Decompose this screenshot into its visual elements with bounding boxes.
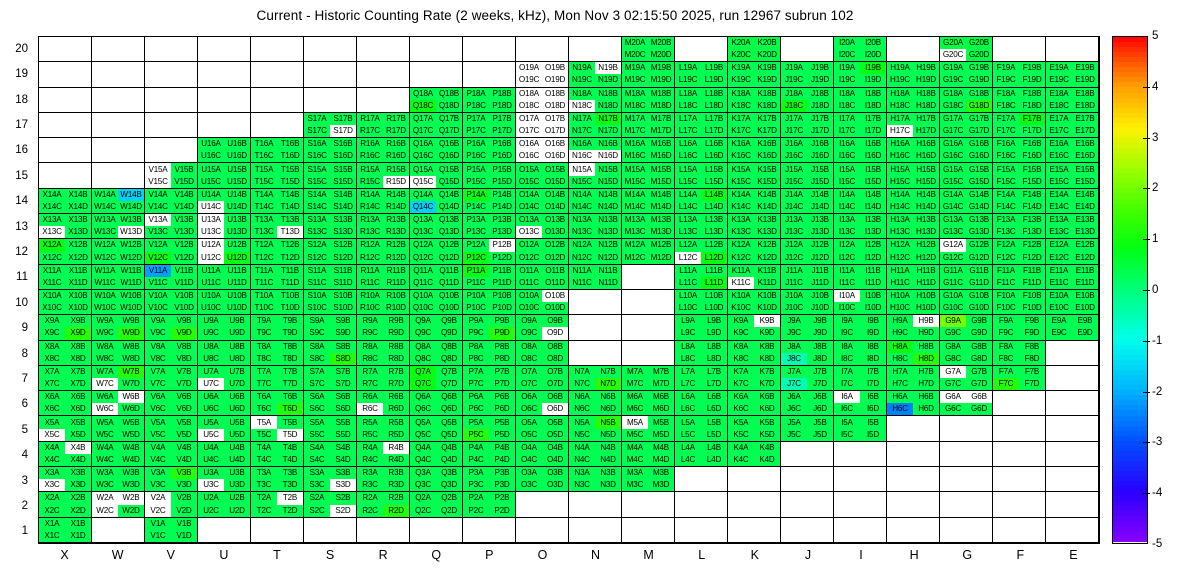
paddle-V3[interactable]: V3AV3BV3CV3D — [145, 467, 198, 492]
paddle-quadrant-O11C[interactable]: O11C — [516, 277, 542, 289]
paddle-quadrant-V13D[interactable]: V13D — [171, 226, 197, 238]
paddle-quadrant-X11B[interactable]: X11B — [65, 265, 91, 277]
paddle-quadrant-G6A[interactable]: G6A — [940, 391, 966, 403]
paddle-quadrant-U6B[interactable]: U6B — [224, 391, 250, 403]
paddle-quadrant-N17A[interactable]: N17A — [569, 113, 595, 125]
paddle-quadrant-G12C[interactable]: G12C — [940, 252, 966, 264]
paddle-quadrant-T12D[interactable]: T12D — [277, 252, 303, 264]
paddle-quadrant-R15B[interactable]: R15B — [383, 163, 409, 175]
paddle-quadrant-W10A[interactable]: W10A — [92, 290, 118, 302]
paddle-I5[interactable]: I5AI5BI5CI5D — [834, 416, 887, 441]
paddle-quadrant-J8D[interactable]: J8D — [807, 353, 833, 365]
paddle-quadrant-S4A[interactable]: S4A — [304, 442, 330, 454]
paddle-quadrant-Q17B[interactable]: Q17B — [436, 113, 462, 125]
paddle-quadrant-P7D[interactable]: P7D — [489, 378, 515, 390]
paddle-quadrant-N4D[interactable]: N4D — [595, 454, 621, 466]
paddle-quadrant-L10C[interactable]: L10C — [675, 302, 701, 314]
paddle-quadrant-U14D[interactable]: U14D — [224, 201, 250, 213]
paddle-U5[interactable]: U5AU5BU5CU5D — [198, 416, 251, 441]
paddle-quadrant-R3D[interactable]: R3D — [383, 479, 409, 491]
paddle-quadrant-F18B[interactable]: F18B — [1019, 88, 1045, 100]
paddle-quadrant-J13C[interactable]: J13C — [781, 226, 807, 238]
paddle-quadrant-K15D[interactable]: K15D — [754, 176, 780, 188]
paddle-quadrant-K5D[interactable]: K5D — [754, 429, 780, 441]
paddle-quadrant-F11D[interactable]: F11D — [1019, 277, 1045, 289]
paddle-quadrant-G9A[interactable]: G9A — [940, 315, 966, 327]
paddle-G12[interactable]: G12AG12BG12CG12D — [940, 239, 993, 264]
paddle-quadrant-X1D[interactable]: X1D — [65, 530, 91, 542]
paddle-quadrant-F16C[interactable]: F16C — [993, 150, 1019, 162]
paddle-quadrant-I12D[interactable]: I12D — [860, 252, 886, 264]
paddle-quadrant-S8C[interactable]: S8C — [304, 353, 330, 365]
paddle-quadrant-T15D[interactable]: T15D — [277, 176, 303, 188]
paddle-quadrant-F7C[interactable]: F7C — [993, 378, 1019, 390]
paddle-quadrant-T16B[interactable]: T16B — [277, 138, 303, 150]
paddle-quadrant-O16C[interactable]: O16C — [516, 150, 542, 162]
paddle-quadrant-O8D[interactable]: O8D — [542, 353, 568, 365]
paddle-quadrant-T4B[interactable]: T4B — [277, 442, 303, 454]
paddle-quadrant-S6D[interactable]: S6D — [330, 403, 356, 415]
paddle-quadrant-O7A[interactable]: O7A — [516, 366, 542, 378]
paddle-quadrant-I12B[interactable]: I12B — [860, 239, 886, 251]
paddle-quadrant-N18A[interactable]: N18A — [569, 88, 595, 100]
paddle-O8[interactable]: O8AO8BO8CO8D — [516, 341, 569, 366]
paddle-quadrant-F7A[interactable]: F7A — [993, 366, 1019, 378]
paddle-quadrant-N19A[interactable]: N19A — [569, 62, 595, 74]
paddle-quadrant-G12D[interactable]: G12D — [966, 252, 992, 264]
paddle-N19[interactable]: N19AN19BN19CN19D — [569, 62, 622, 87]
paddle-P15[interactable]: P15AP15BP15CP15D — [463, 163, 516, 188]
paddle-quadrant-R5D[interactable]: R5D — [383, 429, 409, 441]
paddle-quadrant-F10B[interactable]: F10B — [1019, 290, 1045, 302]
paddle-quadrant-Q17A[interactable]: Q17A — [410, 113, 436, 125]
paddle-quadrant-V14A[interactable]: V14A — [145, 189, 171, 201]
paddle-quadrant-V9A[interactable]: V9A — [145, 315, 171, 327]
paddle-quadrant-S6C[interactable]: S6C — [304, 403, 330, 415]
paddle-quadrant-E9C[interactable]: E9C — [1046, 327, 1072, 339]
paddle-quadrant-K14A[interactable]: K14A — [728, 189, 754, 201]
paddle-quadrant-N4B[interactable]: N4B — [595, 442, 621, 454]
paddle-quadrant-H10A[interactable]: H10A — [887, 290, 913, 302]
paddle-quadrant-V5A[interactable]: V5A — [145, 416, 171, 428]
paddle-S4[interactable]: S4AS4BS4CS4D — [304, 442, 357, 467]
paddle-quadrant-G9B[interactable]: G9B — [966, 315, 992, 327]
paddle-V8[interactable]: V8AV8BV8CV8D — [145, 341, 198, 366]
paddle-quadrant-P15A[interactable]: P15A — [463, 163, 489, 175]
paddle-quadrant-J19D[interactable]: J19D — [807, 74, 833, 86]
paddle-quadrant-P4A[interactable]: P4A — [463, 442, 489, 454]
paddle-quadrant-M6C[interactable]: M6C — [622, 403, 648, 415]
paddle-quadrant-G8C[interactable]: G8C — [940, 353, 966, 365]
paddle-quadrant-U10B[interactable]: U10B — [224, 290, 250, 302]
paddle-I20[interactable]: I20AI20BI20CI20D — [834, 37, 887, 62]
paddle-R10[interactable]: R10AR10BR10CR10D — [357, 290, 410, 315]
paddle-quadrant-F18C[interactable]: F18C — [993, 100, 1019, 112]
paddle-quadrant-T2C[interactable]: T2C — [251, 505, 277, 517]
paddle-quadrant-W3C[interactable]: W3C — [92, 479, 118, 491]
paddle-quadrant-U15C[interactable]: U15C — [198, 176, 224, 188]
paddle-T13[interactable]: T13AT13BT13CT13D — [251, 214, 304, 239]
paddle-quadrant-H6D[interactable]: H6D — [913, 403, 939, 415]
paddle-quadrant-W13A[interactable]: W13A — [92, 214, 118, 226]
paddle-quadrant-I18C[interactable]: I18C — [834, 100, 860, 112]
paddle-quadrant-P18C[interactable]: P18C — [463, 100, 489, 112]
paddle-quadrant-H10D[interactable]: H10D — [913, 302, 939, 314]
paddle-Q17[interactable]: Q17AQ17BQ17CQ17D — [410, 113, 463, 138]
paddle-quadrant-J17C[interactable]: J17C — [781, 125, 807, 137]
paddle-quadrant-H9A[interactable]: H9A — [887, 315, 913, 327]
paddle-quadrant-K10B[interactable]: K10B — [754, 290, 780, 302]
paddle-quadrant-U4C[interactable]: U4C — [198, 454, 224, 466]
paddle-quadrant-G6D[interactable]: G6D — [966, 403, 992, 415]
paddle-quadrant-X1C[interactable]: X1C — [39, 530, 65, 542]
paddle-quadrant-W9A[interactable]: W9A — [92, 315, 118, 327]
paddle-quadrant-I14D[interactable]: I14D — [860, 201, 886, 213]
paddle-H9[interactable]: H9AH9BH9CH9D — [887, 315, 940, 340]
paddle-quadrant-S14A[interactable]: S14A — [304, 189, 330, 201]
paddle-quadrant-H17A[interactable]: H17A — [887, 113, 913, 125]
paddle-quadrant-Q10B[interactable]: Q10B — [436, 290, 462, 302]
paddle-P5[interactable]: P5AP5BP5CP5D — [463, 416, 516, 441]
paddle-S3[interactable]: S3AS3BS3CS3D — [304, 467, 357, 492]
paddle-quadrant-I14B[interactable]: I14B — [860, 189, 886, 201]
paddle-quadrant-I7A[interactable]: I7A — [834, 366, 860, 378]
paddle-quadrant-O7D[interactable]: O7D — [542, 378, 568, 390]
paddle-quadrant-J18A[interactable]: J18A — [781, 88, 807, 100]
paddle-quadrant-X8D[interactable]: X8D — [65, 353, 91, 365]
paddle-quadrant-H14C[interactable]: H14C — [887, 201, 913, 213]
paddle-V1[interactable]: V1AV1BV1CV1D — [145, 518, 198, 543]
paddle-quadrant-K10C[interactable]: K10C — [728, 302, 754, 314]
paddle-quadrant-S10C[interactable]: S10C — [304, 302, 330, 314]
paddle-I9[interactable]: I9AI9BI9CI9D — [834, 315, 887, 340]
paddle-quadrant-G15A[interactable]: G15A — [940, 163, 966, 175]
paddle-quadrant-S8A[interactable]: S8A — [304, 341, 330, 353]
paddle-quadrant-T8D[interactable]: T8D — [277, 353, 303, 365]
paddle-quadrant-F11B[interactable]: F11B — [1019, 265, 1045, 277]
paddle-quadrant-H15C[interactable]: H15C — [887, 176, 913, 188]
paddle-quadrant-I19B[interactable]: I19B — [860, 62, 886, 74]
paddle-quadrant-Q10A[interactable]: Q10A — [410, 290, 436, 302]
paddle-quadrant-E11C[interactable]: E11C — [1046, 277, 1072, 289]
paddle-quadrant-O5D[interactable]: O5D — [542, 429, 568, 441]
paddle-quadrant-E14D[interactable]: E14D — [1072, 201, 1098, 213]
paddle-quadrant-P14B[interactable]: P14B — [489, 189, 515, 201]
paddle-quadrant-X9D[interactable]: X9D — [65, 327, 91, 339]
paddle-F10[interactable]: F10AF10BF10CF10D — [993, 290, 1046, 315]
paddle-quadrant-R17D[interactable]: R17D — [383, 125, 409, 137]
paddle-quadrant-L6A[interactable]: L6A — [675, 391, 701, 403]
paddle-quadrant-J17D[interactable]: J17D — [807, 125, 833, 137]
paddle-quadrant-H16A[interactable]: H16A — [887, 138, 913, 150]
paddle-quadrant-X3A[interactable]: X3A — [39, 467, 65, 479]
paddle-W10[interactable]: W10AW10BW10CW10D — [92, 290, 145, 315]
paddle-quadrant-R9D[interactable]: R9D — [383, 327, 409, 339]
paddle-quadrant-K5A[interactable]: K5A — [728, 416, 754, 428]
paddle-quadrant-G6B[interactable]: G6B — [966, 391, 992, 403]
paddle-quadrant-R8D[interactable]: R8D — [383, 353, 409, 365]
paddle-R14[interactable]: R14AR14BR14CR14D — [357, 189, 410, 214]
paddle-quadrant-T5D[interactable]: T5D — [277, 429, 303, 441]
paddle-O13[interactable]: O13AO13BO13CO13D — [516, 214, 569, 239]
paddle-quadrant-K15A[interactable]: K15A — [728, 163, 754, 175]
paddle-G15[interactable]: G15AG15BG15CG15D — [940, 163, 993, 188]
paddle-quadrant-I10B[interactable]: I10B — [860, 290, 886, 302]
paddle-quadrant-K14D[interactable]: K14D — [754, 201, 780, 213]
paddle-quadrant-K14C[interactable]: K14C — [728, 201, 754, 213]
paddle-quadrant-R14A[interactable]: R14A — [357, 189, 383, 201]
paddle-quadrant-W2D[interactable]: W2D — [118, 505, 144, 517]
paddle-quadrant-S2C[interactable]: S2C — [304, 505, 330, 517]
paddle-quadrant-E10C[interactable]: E10C — [1046, 302, 1072, 314]
paddle-quadrant-J11A[interactable]: J11A — [781, 265, 807, 277]
paddle-F13[interactable]: F13AF13BF13CF13D — [993, 214, 1046, 239]
paddle-N6[interactable]: N6AN6BN6CN6D — [569, 391, 622, 416]
paddle-quadrant-R12B[interactable]: R12B — [383, 239, 409, 251]
paddle-quadrant-H8A[interactable]: H8A — [887, 341, 913, 353]
paddle-N3[interactable]: N3AN3BN3CN3D — [569, 467, 622, 492]
paddle-quadrant-P6A[interactable]: P6A — [463, 391, 489, 403]
paddle-quadrant-T13B[interactable]: T13B — [277, 214, 303, 226]
paddle-quadrant-I5B[interactable]: I5B — [860, 416, 886, 428]
paddle-I14[interactable]: I14AI14BI14CI14D — [834, 189, 887, 214]
paddle-quadrant-T5A[interactable]: T5A — [251, 416, 277, 428]
paddle-quadrant-J7B[interactable]: J7B — [807, 366, 833, 378]
paddle-quadrant-Q13D[interactable]: Q13D — [436, 226, 462, 238]
paddle-quadrant-S16D[interactable]: S16D — [330, 150, 356, 162]
paddle-quadrant-T9D[interactable]: T9D — [277, 327, 303, 339]
paddle-quadrant-R10C[interactable]: R10C — [357, 302, 383, 314]
paddle-quadrant-P2A[interactable]: P2A — [463, 492, 489, 504]
paddle-quadrant-S2B[interactable]: S2B — [330, 492, 356, 504]
paddle-J17[interactable]: J17AJ17BJ17CJ17D — [781, 113, 834, 138]
paddle-quadrant-H7C[interactable]: H7C — [887, 378, 913, 390]
paddle-quadrant-H8D[interactable]: H8D — [913, 353, 939, 365]
paddle-quadrant-T14C[interactable]: T14C — [251, 201, 277, 213]
paddle-quadrant-M14A[interactable]: M14A — [622, 189, 648, 201]
paddle-quadrant-X7C[interactable]: X7C — [39, 378, 65, 390]
paddle-quadrant-O18B[interactable]: O18B — [542, 88, 568, 100]
paddle-quadrant-Q10D[interactable]: Q10D — [436, 302, 462, 314]
paddle-V4[interactable]: V4AV4BV4CV4D — [145, 442, 198, 467]
paddle-quadrant-V7B[interactable]: V7B — [171, 366, 197, 378]
paddle-W2[interactable]: W2AW2BW2CW2D — [92, 492, 145, 517]
paddle-quadrant-I12A[interactable]: I12A — [834, 239, 860, 251]
paddle-quadrant-G18C[interactable]: G18C — [940, 100, 966, 112]
paddle-quadrant-U15B[interactable]: U15B — [224, 163, 250, 175]
paddle-quadrant-M15C[interactable]: M15C — [622, 176, 648, 188]
paddle-quadrant-P5D[interactable]: P5D — [489, 429, 515, 441]
paddle-quadrant-E11D[interactable]: E11D — [1072, 277, 1098, 289]
paddle-quadrant-S4D[interactable]: S4D — [330, 454, 356, 466]
paddle-M3[interactable]: M3AM3BM3CM3D — [622, 467, 675, 492]
paddle-quadrant-L4A[interactable]: L4A — [675, 442, 701, 454]
paddle-quadrant-I7C[interactable]: I7C — [834, 378, 860, 390]
paddle-quadrant-E10A[interactable]: E10A — [1046, 290, 1072, 302]
paddle-quadrant-T12C[interactable]: T12C — [251, 252, 277, 264]
paddle-quadrant-V13A[interactable]: V13A — [145, 214, 171, 226]
paddle-quadrant-H18A[interactable]: H18A — [887, 88, 913, 100]
paddle-quadrant-S6B[interactable]: S6B — [330, 391, 356, 403]
paddle-quadrant-I15C[interactable]: I15C — [834, 176, 860, 188]
paddle-quadrant-G19C[interactable]: G19C — [940, 74, 966, 86]
paddle-quadrant-P13D[interactable]: P13D — [489, 226, 515, 238]
paddle-quadrant-Q8A[interactable]: Q8A — [410, 341, 436, 353]
paddle-quadrant-I5A[interactable]: I5A — [834, 416, 860, 428]
paddle-quadrant-W10B[interactable]: W10B — [118, 290, 144, 302]
paddle-quadrant-O10C[interactable]: O10C — [516, 302, 542, 314]
paddle-quadrant-P16A[interactable]: P16A — [463, 138, 489, 150]
paddle-quadrant-N13D[interactable]: N13D — [595, 226, 621, 238]
paddle-quadrant-V7A[interactable]: V7A — [145, 366, 171, 378]
paddle-quadrant-G11B[interactable]: G11B — [966, 265, 992, 277]
paddle-Q5[interactable]: Q5AQ5BQ5CQ5D — [410, 416, 463, 441]
paddle-U2[interactable]: U2AU2BU2CU2D — [198, 492, 251, 517]
paddle-Q4[interactable]: Q4AQ4BQ4CQ4D — [410, 442, 463, 467]
paddle-quadrant-W9B[interactable]: W9B — [118, 315, 144, 327]
paddle-quadrant-T7C[interactable]: T7C — [251, 378, 277, 390]
paddle-quadrant-V13B[interactable]: V13B — [171, 214, 197, 226]
paddle-quadrant-P15C[interactable]: P15C — [463, 176, 489, 188]
paddle-quadrant-R9C[interactable]: R9C — [357, 327, 383, 339]
paddle-G19[interactable]: G19AG19BG19CG19D — [940, 62, 993, 87]
paddle-quadrant-Q3A[interactable]: Q3A — [410, 467, 436, 479]
paddle-quadrant-T13D[interactable]: T13D — [277, 226, 303, 238]
paddle-F16[interactable]: F16AF16BF16CF16D — [993, 138, 1046, 163]
paddle-quadrant-S7C[interactable]: S7C — [304, 378, 330, 390]
paddle-quadrant-F10C[interactable]: F10C — [993, 302, 1019, 314]
paddle-quadrant-W5B[interactable]: W5B — [118, 416, 144, 428]
paddle-quadrant-J12D[interactable]: J12D — [807, 252, 833, 264]
paddle-U8[interactable]: U8AU8BU8CU8D — [198, 341, 251, 366]
paddle-quadrant-V13C[interactable]: V13C — [145, 226, 171, 238]
paddle-quadrant-S14D[interactable]: S14D — [330, 201, 356, 213]
paddle-quadrant-H11C[interactable]: H11C — [887, 277, 913, 289]
paddle-quadrant-O13D[interactable]: O13D — [542, 226, 568, 238]
paddle-quadrant-N3C[interactable]: N3C — [569, 479, 595, 491]
paddle-E15[interactable]: E15AE15BE15CE15D — [1046, 163, 1099, 188]
paddle-quadrant-R13B[interactable]: R13B — [383, 214, 409, 226]
paddle-quadrant-I14C[interactable]: I14C — [834, 201, 860, 213]
paddle-quadrant-J19B[interactable]: J19B — [807, 62, 833, 74]
paddle-quadrant-R11D[interactable]: R11D — [383, 277, 409, 289]
paddle-quadrant-N19C[interactable]: N19C — [569, 74, 595, 86]
paddle-quadrant-X13D[interactable]: X13D — [65, 226, 91, 238]
paddle-quadrant-W12B[interactable]: W12B — [118, 239, 144, 251]
paddle-quadrant-L5D[interactable]: L5D — [701, 429, 727, 441]
paddle-quadrant-V5B[interactable]: V5B — [171, 416, 197, 428]
paddle-P18[interactable]: P18AP18BP18CP18D — [463, 88, 516, 113]
paddle-quadrant-I9A[interactable]: I9A — [834, 315, 860, 327]
paddle-quadrant-Q13B[interactable]: Q13B — [436, 214, 462, 226]
paddle-quadrant-S8D[interactable]: S8D — [330, 353, 356, 365]
paddle-quadrant-F16A[interactable]: F16A — [993, 138, 1019, 150]
paddle-quadrant-W14C[interactable]: W14C — [92, 201, 118, 213]
paddle-quadrant-H13D[interactable]: H13D — [913, 226, 939, 238]
paddle-quadrant-U12B[interactable]: U12B — [224, 239, 250, 251]
paddle-quadrant-X10C[interactable]: X10C — [39, 302, 65, 314]
paddle-quadrant-H12B[interactable]: H12B — [913, 239, 939, 251]
paddle-quadrant-K5B[interactable]: K5B — [754, 416, 780, 428]
paddle-quadrant-L8C[interactable]: L8C — [675, 353, 701, 365]
paddle-Q18[interactable]: Q18AQ18BQ18CQ18D — [410, 88, 463, 113]
paddle-quadrant-I8B[interactable]: I8B — [860, 341, 886, 353]
paddle-quadrant-Q6D[interactable]: Q6D — [436, 403, 462, 415]
paddle-quadrant-J11D[interactable]: J11D — [807, 277, 833, 289]
paddle-quadrant-T16A[interactable]: T16A — [251, 138, 277, 150]
paddle-quadrant-H17C[interactable]: H17C — [887, 125, 913, 137]
paddle-quadrant-O10A[interactable]: O10A — [516, 290, 542, 302]
paddle-V5[interactable]: V5AV5BV5CV5D — [145, 416, 198, 441]
paddle-quadrant-I20A[interactable]: I20A — [834, 37, 860, 49]
paddle-quadrant-R2C[interactable]: R2C — [357, 505, 383, 517]
paddle-quadrant-K11C[interactable]: K11C — [728, 277, 754, 289]
paddle-F17[interactable]: F17AF17BF17CF17D — [993, 113, 1046, 138]
paddle-quadrant-Q16C[interactable]: Q16C — [410, 150, 436, 162]
paddle-quadrant-S15B[interactable]: S15B — [330, 163, 356, 175]
paddle-quadrant-L15D[interactable]: L15D — [701, 176, 727, 188]
paddle-quadrant-Q14B[interactable]: Q14B — [436, 189, 462, 201]
paddle-J6[interactable]: J6AJ6BJ6CJ6D — [781, 391, 834, 416]
paddle-L8[interactable]: L8AL8BL8CL8D — [675, 341, 728, 366]
paddle-quadrant-S4B[interactable]: S4B — [330, 442, 356, 454]
paddle-quadrant-N13B[interactable]: N13B — [595, 214, 621, 226]
paddle-quadrant-N5D[interactable]: N5D — [595, 429, 621, 441]
paddle-G9[interactable]: G9AG9BG9CG9D — [940, 315, 993, 340]
paddle-quadrant-J13A[interactable]: J13A — [781, 214, 807, 226]
paddle-P4[interactable]: P4AP4BP4CP4D — [463, 442, 516, 467]
paddle-quadrant-E17C[interactable]: E17C — [1046, 125, 1072, 137]
paddle-quadrant-T11B[interactable]: T11B — [277, 265, 303, 277]
paddle-quadrant-K10D[interactable]: K10D — [754, 302, 780, 314]
paddle-quadrant-Q15C[interactable]: Q15C — [410, 176, 436, 188]
paddle-quadrant-E15D[interactable]: E15D — [1072, 176, 1098, 188]
paddle-O12[interactable]: O12AO12BO12CO12D — [516, 239, 569, 264]
paddle-quadrant-V11C[interactable]: V11C — [145, 277, 171, 289]
paddle-G17[interactable]: G17AG17BG17CG17D — [940, 113, 993, 138]
paddle-quadrant-U14B[interactable]: U14B — [224, 189, 250, 201]
paddle-X6[interactable]: X6AX6BX6CX6D — [39, 391, 92, 416]
paddle-quadrant-G16D[interactable]: G16D — [966, 150, 992, 162]
paddle-quadrant-S13B[interactable]: S13B — [330, 214, 356, 226]
paddle-quadrant-T10A[interactable]: T10A — [251, 290, 277, 302]
paddle-quadrant-T3A[interactable]: T3A — [251, 467, 277, 479]
paddle-M15[interactable]: M15AM15BM15CM15D — [622, 163, 675, 188]
paddle-quadrant-H12D[interactable]: H12D — [913, 252, 939, 264]
paddle-quadrant-N12D[interactable]: N12D — [595, 252, 621, 264]
paddle-quadrant-W2C[interactable]: W2C — [92, 505, 118, 517]
paddle-quadrant-P11D[interactable]: P11D — [489, 277, 515, 289]
paddle-W11[interactable]: W11AW11BW11CW11D — [92, 265, 145, 290]
paddle-quadrant-K6C[interactable]: K6C — [728, 403, 754, 415]
paddle-R8[interactable]: R8AR8BR8CR8D — [357, 341, 410, 366]
paddle-W4[interactable]: W4AW4BW4CW4D — [92, 442, 145, 467]
paddle-quadrant-N17C[interactable]: N17C — [569, 125, 595, 137]
paddle-J11[interactable]: J11AJ11BJ11CJ11D — [781, 265, 834, 290]
paddle-X8[interactable]: X8AX8BX8CX8D — [39, 341, 92, 366]
paddle-quadrant-J12C[interactable]: J12C — [781, 252, 807, 264]
paddle-quadrant-P5B[interactable]: P5B — [489, 416, 515, 428]
paddle-quadrant-U6C[interactable]: U6C — [198, 403, 224, 415]
paddle-quadrant-L16D[interactable]: L16D — [701, 150, 727, 162]
paddle-quadrant-U9C[interactable]: U9C — [198, 327, 224, 339]
paddle-quadrant-G11D[interactable]: G11D — [966, 277, 992, 289]
paddle-quadrant-J10B[interactable]: J10B — [807, 290, 833, 302]
paddle-quadrant-T14B[interactable]: T14B — [277, 189, 303, 201]
paddle-quadrant-L11C[interactable]: L11C — [675, 277, 701, 289]
paddle-quadrant-W14D[interactable]: W14D — [118, 201, 144, 213]
paddle-quadrant-P11B[interactable]: P11B — [489, 265, 515, 277]
